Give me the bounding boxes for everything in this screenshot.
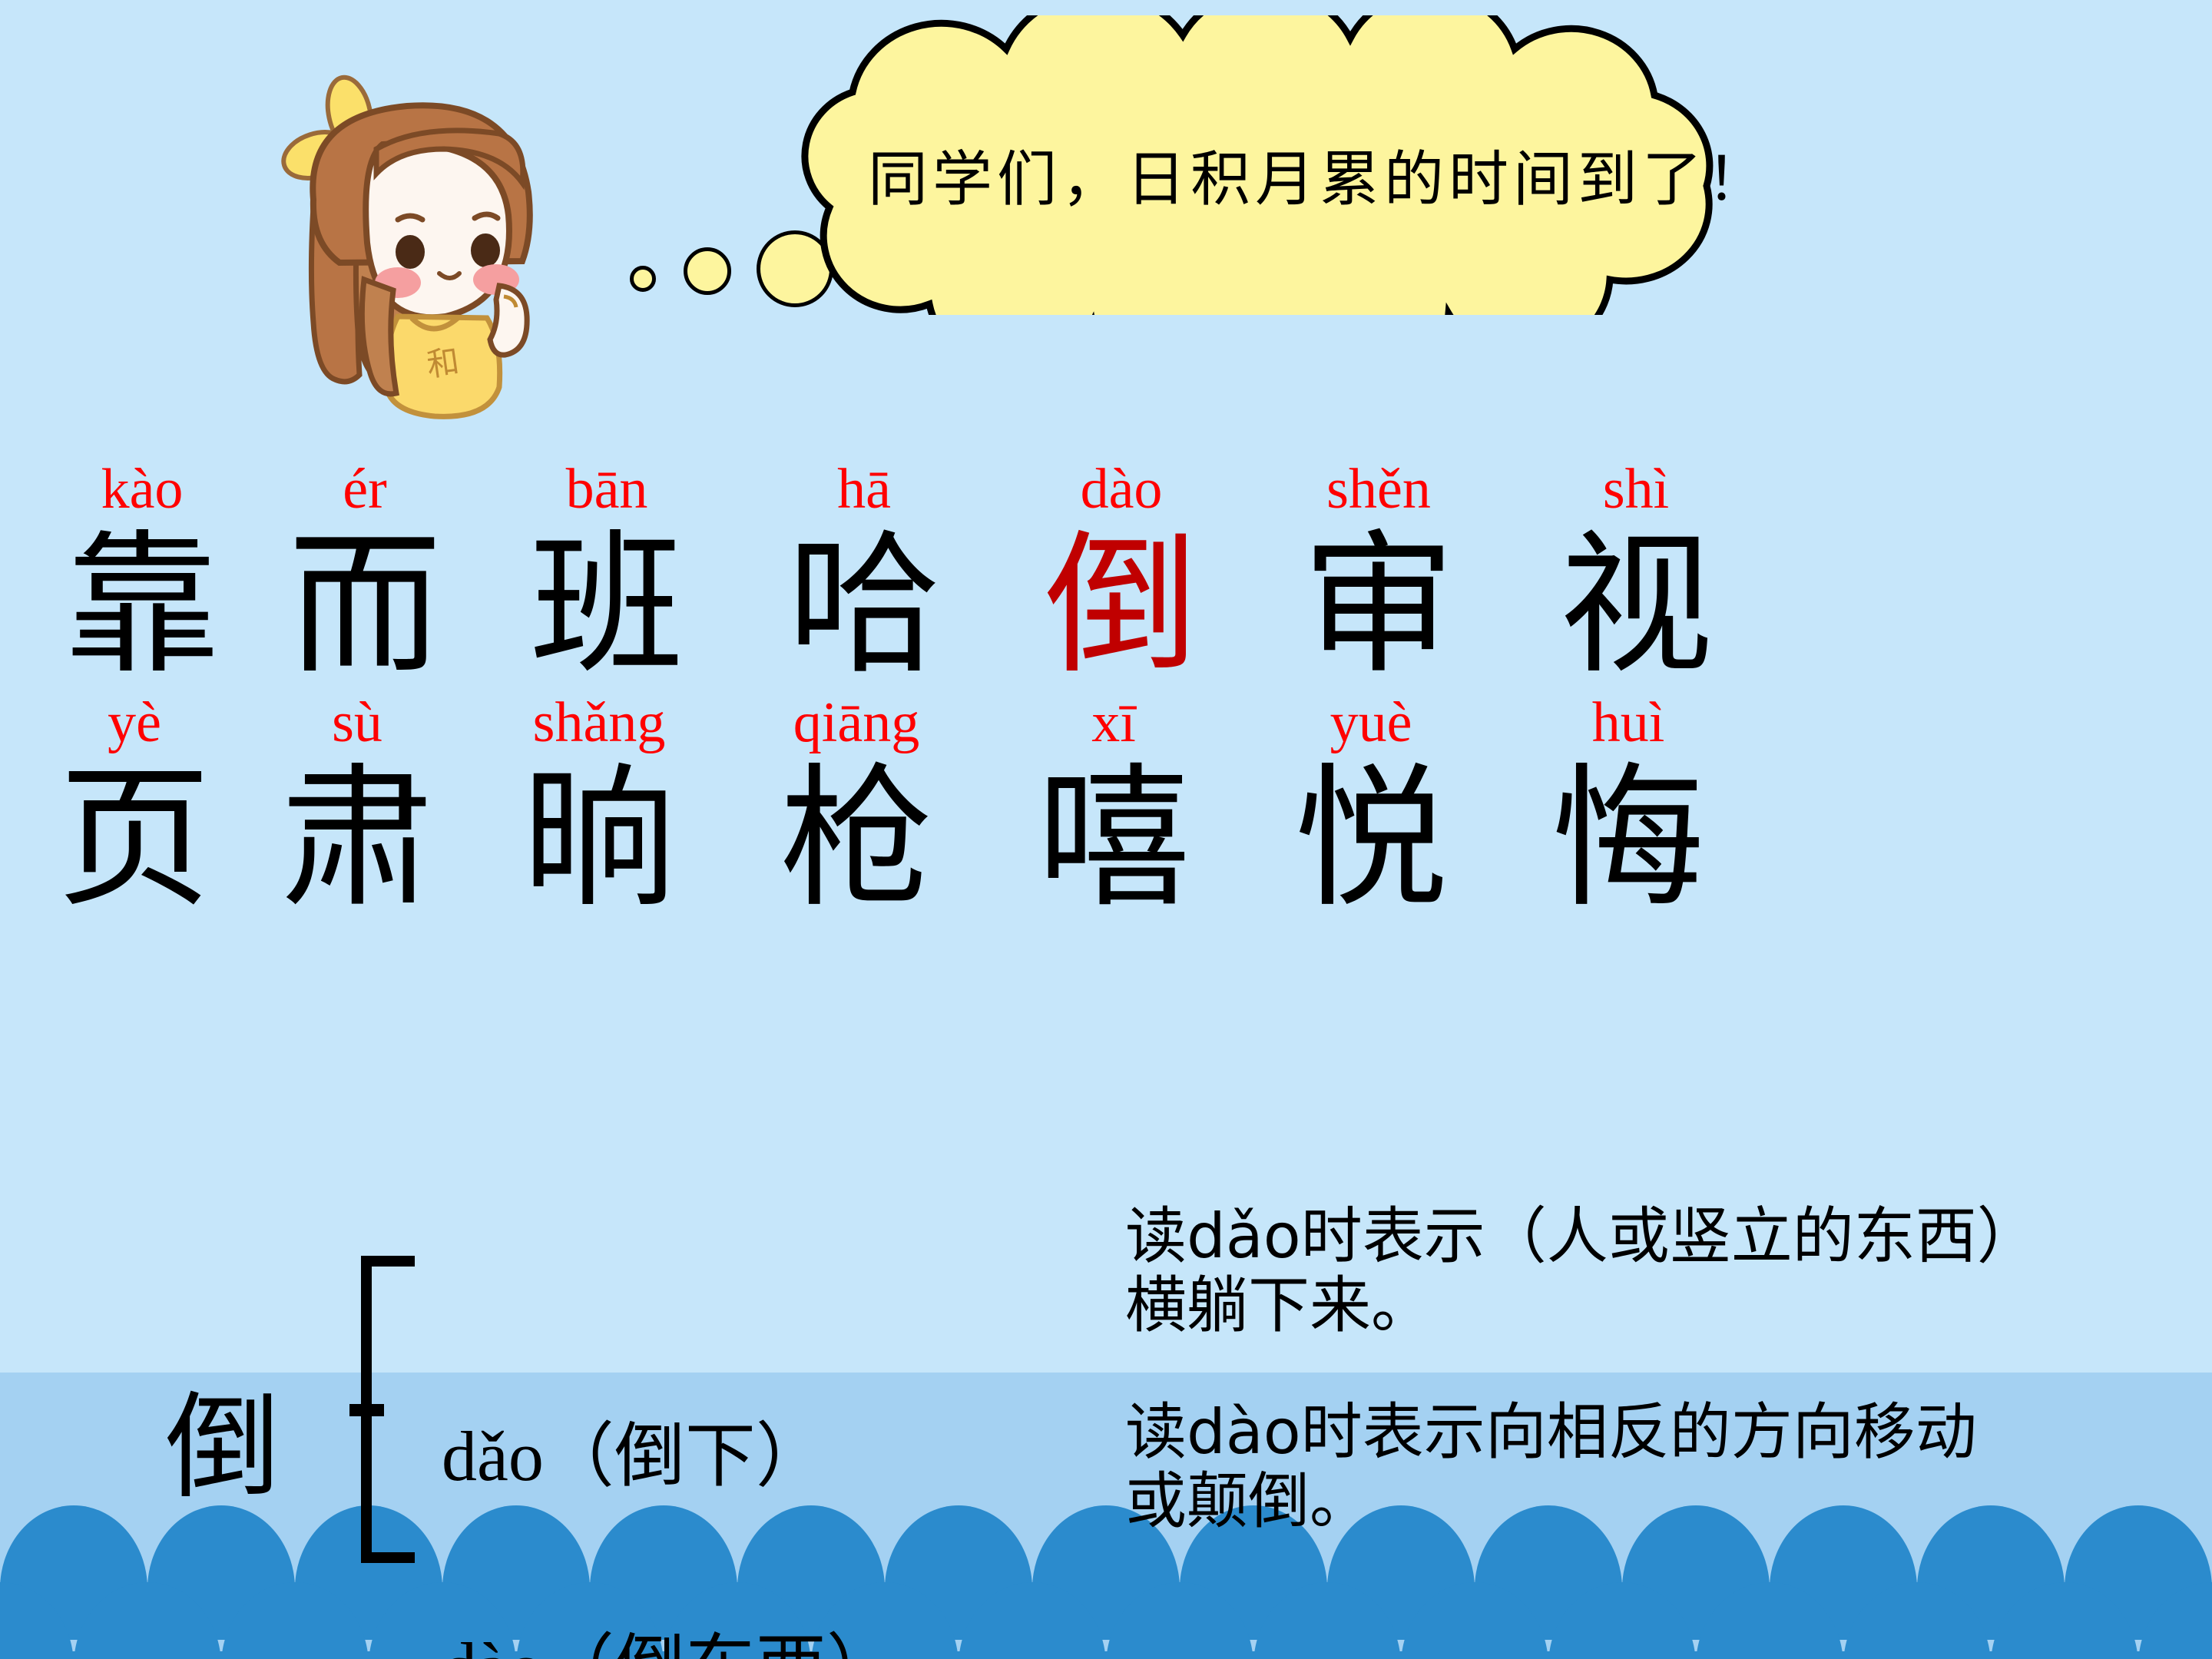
pinyin-label: shì: [1505, 461, 1767, 518]
hanzi-character: 靠: [31, 518, 253, 694]
hanzi-character: 而: [253, 518, 476, 694]
polyphone-explanation-block: 倒 dǎo（倒下） dào（倒东西） 读dǎo时表示（人或竖立的东西）横躺下来。…: [0, 1183, 2212, 1659]
vocabulary-cell[interactable]: shì 视: [1505, 461, 1767, 694]
polyphone-definition-1: 读dǎo时表示（人或竖立的东西）横躺下来。: [1125, 1202, 2016, 1339]
svg-text:和: 和: [425, 343, 462, 384]
hanzi-character: 嘻: [983, 751, 1244, 928]
vocabulary-cell[interactable]: sù 肃: [246, 694, 469, 928]
polyphone-head-character: 倒: [165, 1390, 280, 1505]
polyphone-reading-1[interactable]: dǎo（倒下）: [442, 1421, 826, 1492]
grouping-bracket-tick: [349, 1404, 384, 1416]
vocabulary-cell[interactable]: yuè 悦: [1244, 694, 1498, 928]
polyphone-reading-2[interactable]: dào（倒东西）: [442, 1632, 897, 1659]
vocabulary-cell[interactable]: hā 哈: [737, 461, 991, 694]
thought-dot-small: [630, 266, 656, 292]
hanzi-character: 悦: [1244, 751, 1498, 928]
vocabulary-cell[interactable]: xī 嘻: [983, 694, 1244, 928]
speech-bubble: 同学们，日积月累的时间到了！: [714, 15, 2066, 315]
hanzi-character: 枪: [730, 751, 983, 928]
pinyin-label: bān: [476, 461, 737, 518]
vocabulary-row-1: kào 靠 ér 而 bān 班 hā 哈 dào 倒 shěn 审 shì 视: [0, 461, 2212, 694]
pinyin-label: qiāng: [730, 694, 983, 751]
hanzi-character: 晌: [469, 751, 730, 928]
vocabulary-cell[interactable]: yè 页: [23, 694, 246, 928]
polyphone-definition-2: 读dào时表示向相反的方向移动或颠倒。: [1125, 1398, 2016, 1535]
reading-pinyin: dǎo: [442, 1417, 544, 1495]
vocabulary-cell[interactable]: shǎng 晌: [469, 694, 730, 928]
vocabulary-grid: kào 靠 ér 而 bān 班 hā 哈 dào 倒 shěn 审 shì 视: [0, 461, 2212, 928]
pinyin-label: kào: [31, 461, 253, 518]
speech-bubble-text: 同学们，日积月累的时间到了！: [868, 150, 1943, 210]
vocabulary-cell[interactable]: ér 而: [253, 461, 476, 694]
hanzi-character: 班: [476, 518, 737, 694]
vocabulary-cell[interactable]: huì 悔: [1498, 694, 1759, 928]
hanzi-character: 页: [23, 751, 246, 928]
vocabulary-cell-highlighted[interactable]: dào 倒: [991, 461, 1252, 694]
vocabulary-cell[interactable]: kào 靠: [31, 461, 253, 694]
pinyin-label: dào: [991, 461, 1252, 518]
pinyin-label: shǎng: [469, 694, 730, 751]
pinyin-label: yè: [23, 694, 246, 751]
vocabulary-cell[interactable]: shěn 审: [1252, 461, 1505, 694]
cartoon-girl-illustration: 和: [269, 69, 591, 430]
pinyin-label: xī: [983, 694, 1244, 751]
hanzi-character: 视: [1505, 518, 1767, 694]
pinyin-label: huì: [1498, 694, 1759, 751]
vocabulary-cell[interactable]: bān 班: [476, 461, 737, 694]
pinyin-label: sù: [246, 694, 469, 751]
vocabulary-cell[interactable]: qiāng 枪: [730, 694, 983, 928]
pinyin-label: yuè: [1244, 694, 1498, 751]
pinyin-label: ér: [253, 461, 476, 518]
vocabulary-row-2: yè 页 sù 肃 shǎng 晌 qiāng 枪 xī 嘻 yuè 悦 huì…: [0, 694, 2212, 928]
reading-example: （倒东西）: [544, 1626, 897, 1659]
pinyin-label: shěn: [1252, 461, 1505, 518]
hanzi-character: 哈: [737, 518, 991, 694]
hanzi-character: 肃: [246, 751, 469, 928]
reading-pinyin: dào: [442, 1628, 544, 1659]
hanzi-character: 审: [1252, 518, 1505, 694]
hanzi-character: 倒: [991, 518, 1252, 694]
hanzi-character: 悔: [1498, 751, 1759, 928]
pinyin-label: hā: [737, 461, 991, 518]
reading-example: （倒下）: [544, 1415, 826, 1497]
